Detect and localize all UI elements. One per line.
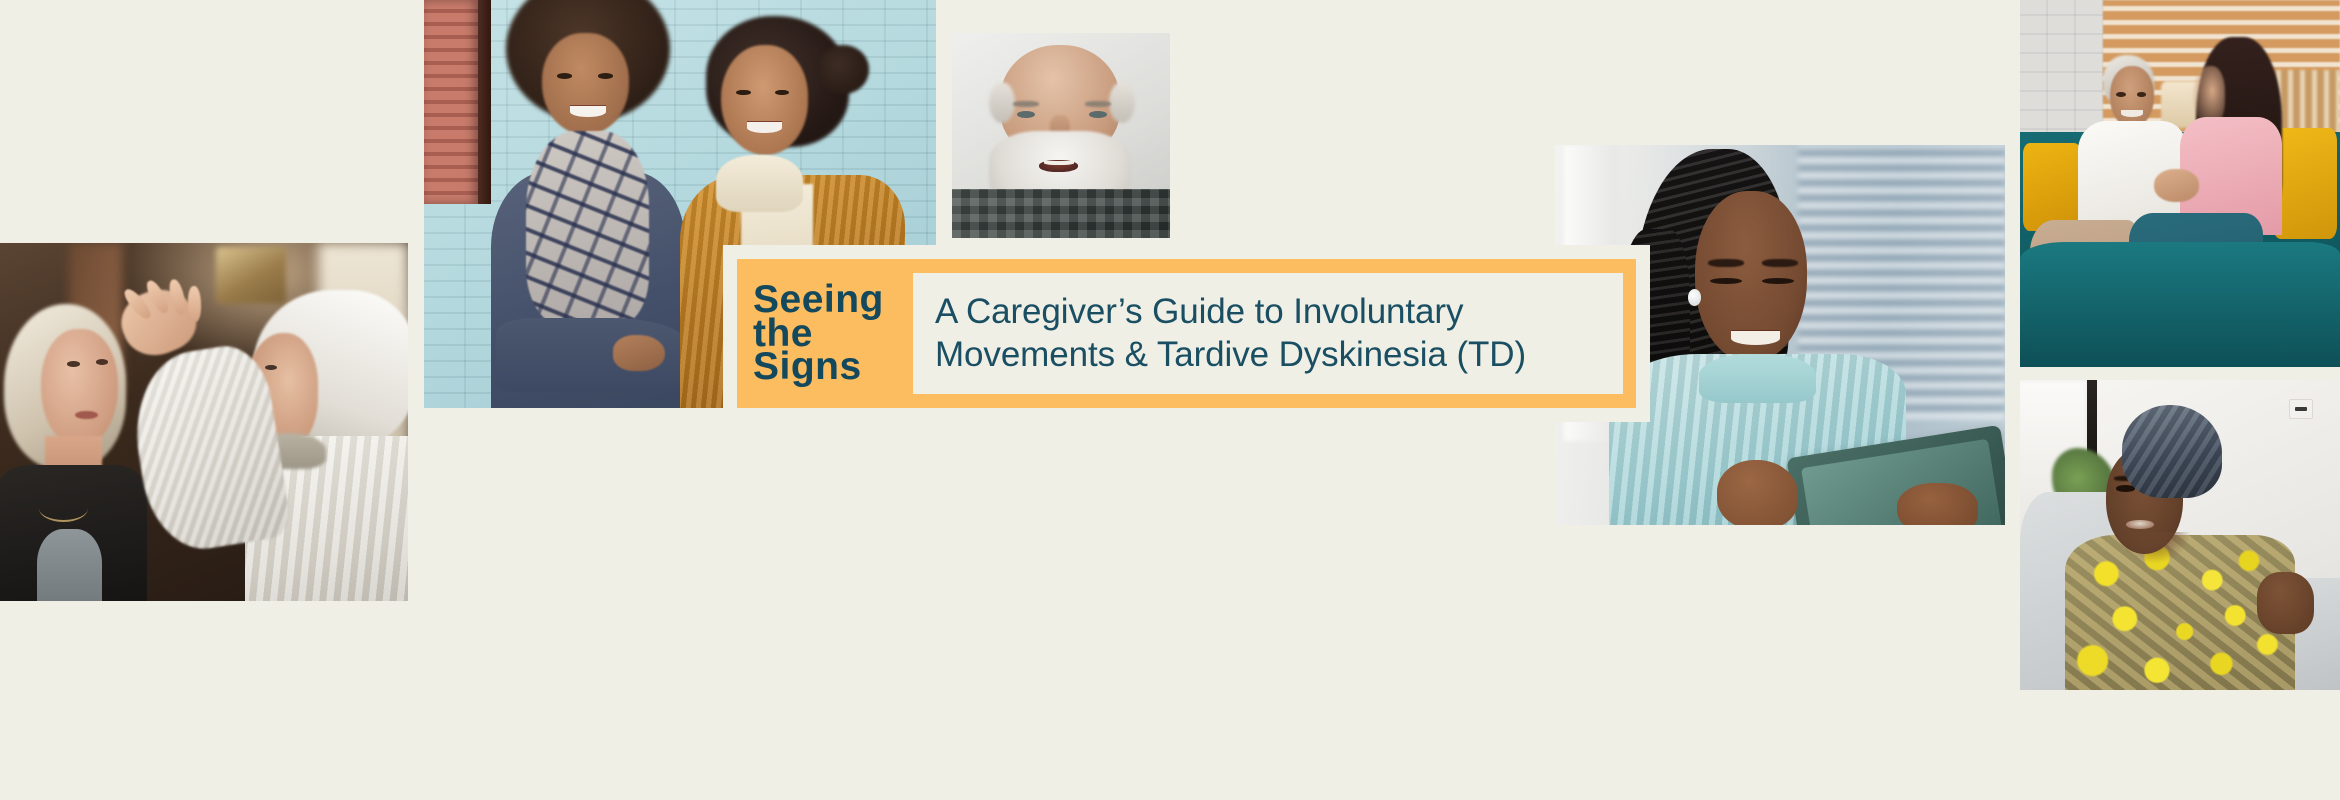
photo-detail-man-brow-right: [1085, 101, 1111, 107]
photo-detail-blouse-collar: [1699, 354, 1816, 403]
photo-detail-man-eye-right: [1089, 111, 1106, 118]
title-banner: Seeing the Signs A Caregiver’s Guide to …: [723, 245, 1650, 422]
photo-detail-woman-mouth: [2126, 520, 2155, 529]
banner-subtitle-panel: A Caregiver’s Guide to Involuntary Movem…: [913, 273, 1623, 394]
photo-detail-caregiver-eye-left: [67, 361, 79, 367]
photo-detail-woman2-turtleneck: [716, 155, 803, 212]
photo-detail-man-plaid-shirt: [952, 189, 1170, 238]
title-banner-accent-panel: Seeing the Signs A Caregiver’s Guide to …: [737, 259, 1636, 408]
photo-detail-woman1-hand: [613, 335, 664, 372]
photo-detail-yellow-cushion-right: [2273, 128, 2337, 238]
photo-detail-woman1-smile: [570, 106, 606, 117]
photo-detail-dress-neckline: [2119, 532, 2189, 563]
photo-detail-window-shutter: [424, 0, 478, 204]
photo-detail-woman2-face: [721, 45, 808, 155]
photo-detail-woman1-face: [542, 33, 629, 135]
photo-elderly-woman-touching-caregiver: [0, 243, 408, 601]
photo-detail-woman1-plaid-scarf: [526, 131, 649, 327]
photo-detail-woman-brow-left: [1708, 259, 1744, 267]
photo-detail-caregiver-eye-right: [96, 359, 108, 365]
photo-woman-headwrap: [2020, 380, 2340, 690]
photo-detail-caregiver-shirt: [37, 529, 102, 601]
photo-detail-yellow-cushion-left: [2023, 143, 2081, 231]
photo-detail-woman-eye-right: [1762, 278, 1794, 284]
photo-elderly-bearded-man: [952, 33, 1170, 238]
photo-detail-caregiver-face: [41, 329, 119, 447]
photo-detail-man-eye-left: [1017, 111, 1034, 118]
page-title: Seeing the Signs: [753, 283, 884, 385]
photo-detail-woman2-smile: [747, 122, 783, 133]
photo-detail-couch-seat: [2020, 242, 2340, 367]
photo-detail-woman-hand-holding: [1897, 483, 1978, 525]
photo-detail-woman-smile: [1731, 331, 1781, 345]
photo-detail-held-hands: [2154, 169, 2199, 202]
banner-eyebrow: Seeing the Signs: [737, 259, 913, 408]
photo-detail-man-brow-left: [1013, 101, 1039, 107]
page-subtitle: A Caregiver’s Guide to Involuntary Movem…: [935, 291, 1601, 376]
photo-detail-man-hair-right: [1109, 82, 1135, 123]
photo-detail-woman-brow-right: [1762, 259, 1798, 267]
photo-detail-woman-arm: [2257, 572, 2315, 634]
photo-detail-wall-switch: [2289, 399, 2313, 420]
photo-detail-woman-hand-tapping: [1717, 460, 1798, 525]
photo-detail-man-teeth: [1044, 161, 1075, 166]
poster-canvas: Seeing the Signs A Caregiver’s Guide to …: [0, 0, 2340, 800]
photo-detail-elder-finger-4: [187, 286, 201, 322]
photo-detail-window-frame: [478, 0, 491, 204]
photo-detail-woman2-hair-bun: [818, 45, 869, 94]
photo-detail-woman-eye-left: [1710, 278, 1742, 284]
photo-detail-picture-frame: [216, 247, 285, 304]
photo-detail-elder-eye-right: [2137, 92, 2147, 97]
photo-detail-elder-eye-left: [2116, 92, 2126, 97]
photo-women-on-couch: [2020, 0, 2340, 367]
photo-detail-head-wrap-folds: [2122, 405, 2221, 498]
